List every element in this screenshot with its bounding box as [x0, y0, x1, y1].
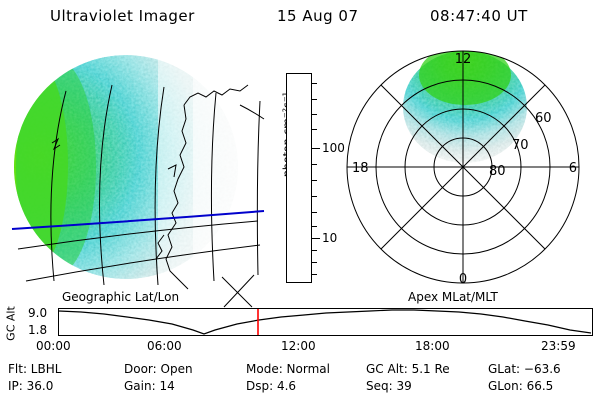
observation-date: 15 Aug 07: [277, 6, 359, 26]
mlt-spokes: [347, 51, 579, 283]
mlt-label-12: 12: [455, 52, 472, 67]
colorbar-major-tick-10: [312, 238, 320, 239]
colorbar-minor-tick: [312, 262, 317, 263]
orbit-xtick-2: 12:00: [281, 339, 316, 353]
colorbar-minor-tick: [312, 180, 317, 181]
orbit-xtick-0: 00:00: [36, 339, 71, 353]
mlt-label-0: 0: [459, 272, 467, 287]
colorbar-minor-tick: [312, 226, 317, 227]
observation-time: 08:47:40 UT: [430, 6, 528, 26]
lat-label-60: 60: [535, 111, 552, 126]
lat-label-80: 80: [489, 164, 506, 179]
orbit-plot-frame: [58, 308, 593, 336]
auroral-emission-disc: [0, 45, 283, 290]
lat-label-70: 70: [512, 138, 529, 153]
colorbar-minor-tick: [312, 196, 317, 197]
status-door: Door: Open: [124, 362, 193, 376]
colorbar-major-tick-100: [312, 148, 320, 149]
orbit-ytick-min: 1.8: [28, 323, 47, 337]
orbit-xtick-3: 18:00: [415, 339, 450, 353]
colorbar-gradient-box: [286, 73, 312, 283]
left-panel-caption: Geographic Lat/Lon: [62, 290, 179, 304]
status-seq: Seq: 39: [366, 379, 412, 393]
right-panel-caption: Apex MLat/MLT: [408, 290, 498, 304]
colorbar-minor-tick: [312, 99, 317, 100]
colorbar-minor-tick: [312, 164, 317, 165]
status-block: Flt: LBHL Door: Open Mode: Normal GC Alt…: [0, 360, 600, 398]
status-glat: GLat: −63.6: [488, 362, 561, 376]
geographic-image-panel[interactable]: [8, 45, 266, 290]
mlt-label-18: 18: [352, 161, 369, 176]
orbit-track-line: [59, 310, 591, 334]
orbit-altitude-plot[interactable]: GC Alt 9.0 1.8 00:00 06:00 12:00 18:00 2…: [0, 303, 600, 355]
status-glon: GLon: 66.5: [488, 379, 553, 393]
status-ip: IP: 36.0: [8, 379, 53, 393]
orbit-xtick-1: 06:00: [147, 339, 182, 353]
colorbar-minor-tick: [312, 83, 317, 84]
orbit-track-svg: [59, 309, 592, 335]
colorbar-minor-tick: [312, 250, 317, 251]
geographic-globe-svg: [8, 45, 266, 290]
status-mode: Mode: Normal: [246, 362, 330, 376]
status-gain: Gain: 14: [124, 379, 175, 393]
orbit-xtick-4: 23:59: [541, 339, 576, 353]
mlt-label-6: 6: [569, 161, 577, 176]
orbit-y-axis-label: GC Alt: [5, 301, 18, 347]
orbit-ytick-max: 9.0: [28, 306, 47, 320]
colorbar-minor-tick: [312, 212, 317, 213]
colorbar-minor-tick: [312, 129, 317, 130]
status-flt: Flt: LBHL: [8, 362, 61, 376]
instrument-title: Ultraviolet Imager: [50, 6, 195, 26]
colorbar-minor-tick: [312, 274, 317, 275]
colorbar: photon cm⁻²s⁻¹ 100 10: [268, 50, 334, 295]
apex-polar-panel[interactable]: 12 18 6 0 60 70 80: [334, 45, 592, 290]
status-gc-alt: GC Alt: 5.1 Re: [366, 362, 450, 376]
status-dsp: Dsp: 4.6: [246, 379, 296, 393]
polar-dial-svg: 12 18 6 0 60 70 80: [334, 45, 592, 290]
header-bar: Ultraviolet Imager 15 Aug 07 08:47:40 UT: [0, 6, 600, 30]
colorbar-gradient: [287, 74, 311, 282]
colorbar-minor-tick: [312, 114, 317, 115]
